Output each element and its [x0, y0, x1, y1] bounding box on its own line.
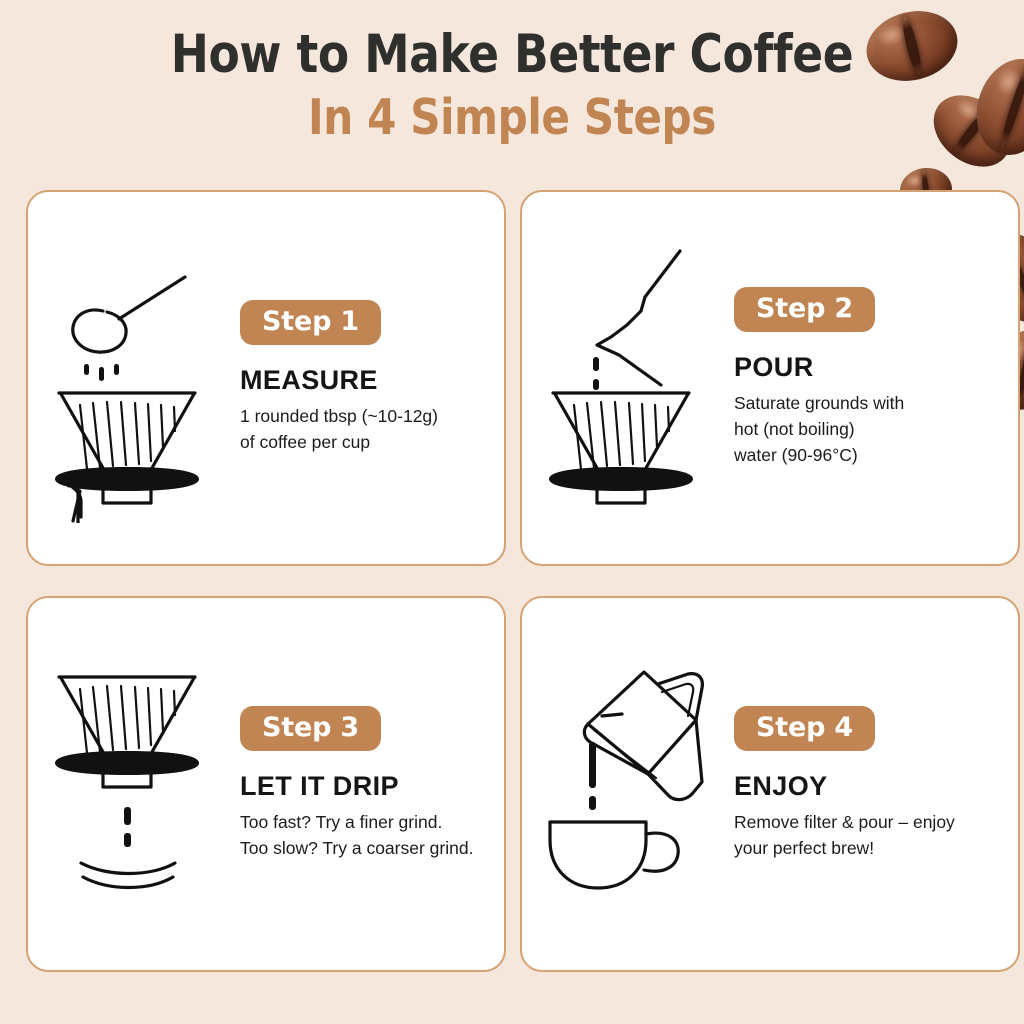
- step-card-1: Step 1 MEASURE 1 rounded tbsp (~10-12g) …: [26, 190, 506, 566]
- step-3-illustration: [42, 639, 232, 929]
- step-1-title: MEASURE: [240, 365, 492, 396]
- step-2-copy: Step 2 POUR Saturate grounds with hot (n…: [726, 287, 1012, 469]
- step-4-description: Remove filter & pour – enjoy your perfec…: [734, 810, 1006, 862]
- step-4-illustration: [536, 654, 726, 914]
- step-4-badge: Step 4: [734, 706, 875, 751]
- page-title: How to Make Better Coffee: [72, 28, 953, 82]
- infographic-canvas: How to Make Better Coffee In 4 Simple St…: [0, 0, 1024, 1024]
- pour-over-dripper-brewing-icon: [47, 639, 227, 929]
- step-4-copy: Step 4 ENJOY Remove filter & pour – enjo…: [726, 706, 1012, 862]
- step-3-copy: Step 3 LET IT DRIP Too fast? Try a finer…: [232, 706, 498, 862]
- step-3-badge: Step 3: [240, 706, 381, 751]
- step-2-description: Saturate grounds with hot (not boiling) …: [734, 391, 1006, 469]
- step-1-badge: Step 1: [240, 300, 381, 345]
- step-card-2: Step 2 POUR Saturate grounds with hot (n…: [520, 190, 1020, 566]
- carafe-pouring-into-cup-icon: [536, 654, 726, 914]
- step-3-description: Too fast? Try a finer grind. Too slow? T…: [240, 810, 492, 862]
- step-2-title: POUR: [734, 352, 1006, 383]
- step-3-title: LET IT DRIP: [240, 771, 492, 802]
- step-1-illustration: [42, 233, 232, 523]
- page-subtitle: In 4 Simple Steps: [72, 92, 953, 143]
- pour-over-dripper-with-kettle-icon: [541, 233, 721, 523]
- step-card-4: Step 4 ENJOY Remove filter & pour – enjo…: [520, 596, 1020, 972]
- pour-over-dripper-with-spoon-icon: [47, 233, 227, 523]
- step-2-illustration: [536, 233, 726, 523]
- step-4-title: ENJOY: [734, 771, 1006, 802]
- step-card-3: Step 3 LET IT DRIP Too fast? Try a finer…: [26, 596, 506, 972]
- step-1-copy: Step 1 MEASURE 1 rounded tbsp (~10-12g) …: [232, 300, 498, 456]
- step-1-description: 1 rounded tbsp (~10-12g) of coffee per c…: [240, 404, 492, 456]
- step-2-badge: Step 2: [734, 287, 875, 332]
